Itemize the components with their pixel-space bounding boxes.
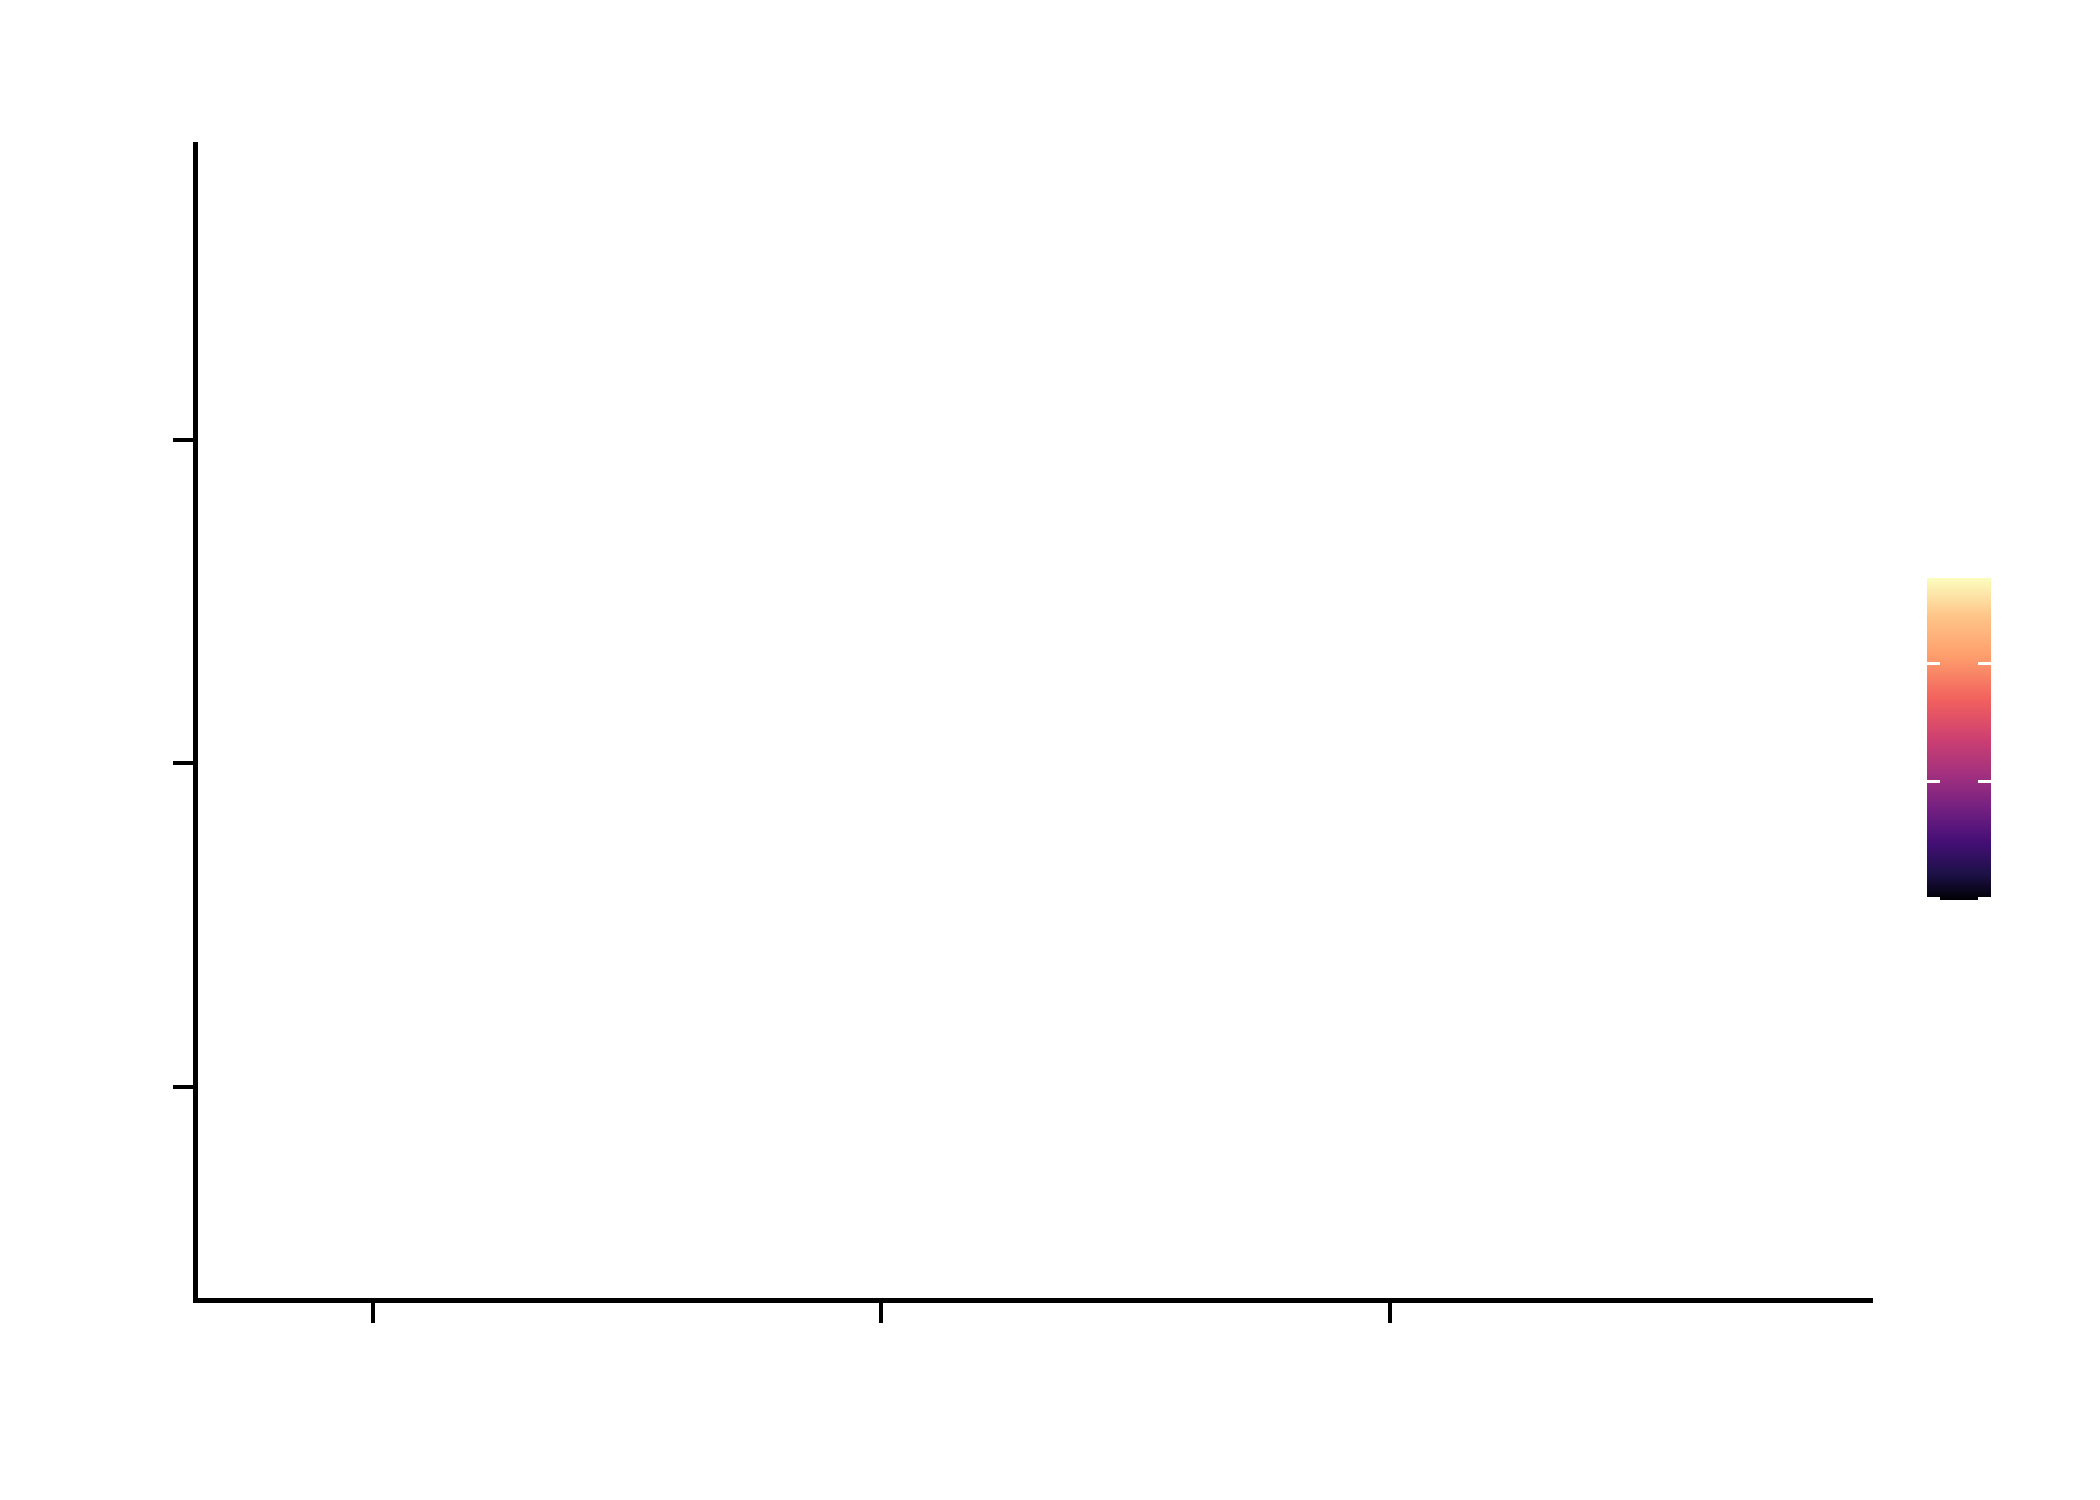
colorbar-tick — [1978, 662, 1991, 665]
colorbar-tick — [1978, 897, 1991, 900]
x-axis-line — [193, 1298, 1873, 1303]
scatter-plot-panel — [198, 142, 1873, 1298]
umap-feature-plot — [0, 0, 2100, 1500]
x-tick-mark — [371, 1303, 375, 1323]
colorbar-tick — [1927, 662, 1940, 665]
colorbar-legend — [1927, 578, 2087, 900]
colorbar-tick — [1978, 780, 1991, 783]
colorbar-tick — [1927, 897, 1940, 900]
x-tick-mark — [879, 1303, 883, 1323]
y-tick-mark — [173, 1085, 193, 1089]
colorbar-gradient — [1927, 578, 1991, 900]
colorbar-tick — [1927, 780, 1940, 783]
x-tick-mark — [1388, 1303, 1392, 1323]
y-tick-mark — [173, 438, 193, 442]
y-tick-mark — [173, 761, 193, 765]
